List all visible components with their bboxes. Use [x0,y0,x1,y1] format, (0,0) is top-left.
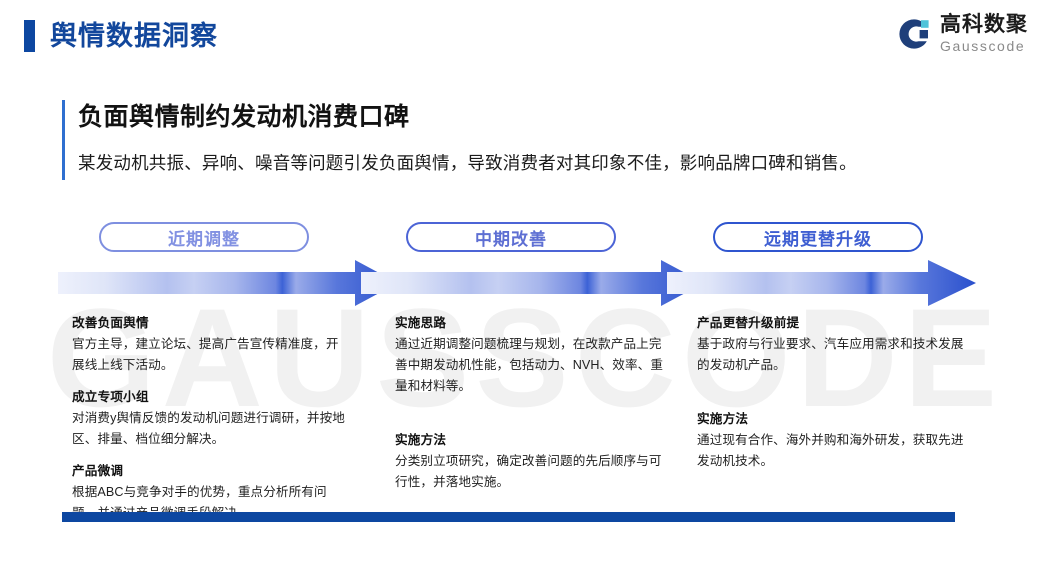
page-header: 舆情数据洞察 [0,0,1050,72]
column-long-term: 产品更替升级前提 基于政府与行业要求、汽车应用需求和技术发展的发动机产品。 实施… [697,312,975,482]
section-subheading: 某发动机共振、异响、噪音等问题引发负面舆情，导致消费者对其印象不佳，影响品牌口碑… [78,150,982,176]
block-heading: 成立专项小组 [72,386,350,408]
brand-logo-text: 高科数聚 Gausscode [940,14,1028,53]
brand-name-en: Gausscode [940,39,1028,53]
column-near-term: 改善负面舆情 官方主导，建立论坛、提高广告宣传精准度，开展线上线下活动。 成立专… [72,312,350,534]
title-block: 负面舆情制约发动机消费口碑 某发动机共振、异响、噪音等问题引发负面舆情，导致消费… [62,98,982,176]
stage-pill-mid-term[interactable]: 中期改善 [406,222,616,252]
block-spacer [697,386,975,408]
brand-name-cn: 高科数聚 [940,14,1028,35]
stage-pill-row: 近期调整 中期改善 远期更替升级 [0,222,1050,256]
block-heading: 改善负面舆情 [72,312,350,334]
block-body: 分类别立项研究，确定改善问题的先后顺序与可行性，并落地实施。 [395,451,673,493]
content-block: 成立专项小组 对消费y舆情反馈的发动机问题进行调研，并按地区、排量、档位细分解决… [72,386,350,450]
brand-logo: 高科数聚 Gausscode [897,14,1028,53]
block-body: 通过近期调整问题梳理与规划，在改款产品上完善中期发动机性能，包括动力、NVH、效… [395,334,673,397]
content-block: 产品更替升级前提 基于政府与行业要求、汽车应用需求和技术发展的发动机产品。 [697,312,975,376]
stage-pill-long-term[interactable]: 远期更替升级 [713,222,923,252]
block-body: 官方主导，建立论坛、提高广告宣传精准度，开展线上线下活动。 [72,334,350,376]
content-block: 实施方法 分类别立项研究，确定改善问题的先后顺序与可行性，并落地实施。 [395,429,673,493]
block-spacer [395,407,673,429]
column-mid-term: 实施思路 通过近期调整问题梳理与规划，在改款产品上完善中期发动机性能，包括动力、… [395,312,673,503]
stage-pill-near-term[interactable]: 近期调整 [99,222,309,252]
block-body: 通过现有合作、海外并购和海外研发，获取先进发动机技术。 [697,430,975,472]
section-heading: 负面舆情制约发动机消费口碑 [78,98,982,136]
footer-bar [62,512,955,522]
title-accent-bar [62,100,65,180]
page-title: 舆情数据洞察 [50,14,218,58]
content-block: 实施思路 通过近期调整问题梳理与规划，在改款产品上完善中期发动机性能，包括动力、… [395,312,673,397]
block-body: 对消费y舆情反馈的发动机问题进行调研，并按地区、排量、档位细分解决。 [72,408,350,450]
header-bullet-icon [24,20,35,52]
block-heading: 实施思路 [395,312,673,334]
content-block: 改善负面舆情 官方主导，建立论坛、提高广告宣传精准度，开展线上线下活动。 [72,312,350,376]
block-heading: 产品更替升级前提 [697,312,975,334]
gausscode-logo-icon [897,17,931,51]
timeline-arrow [58,258,983,308]
block-heading: 产品微调 [72,460,350,482]
block-body: 基于政府与行业要求、汽车应用需求和技术发展的发动机产品。 [697,334,975,376]
content-block: 实施方法 通过现有合作、海外并购和海外研发，获取先进发动机技术。 [697,408,975,472]
block-heading: 实施方法 [697,408,975,430]
block-heading: 实施方法 [395,429,673,451]
